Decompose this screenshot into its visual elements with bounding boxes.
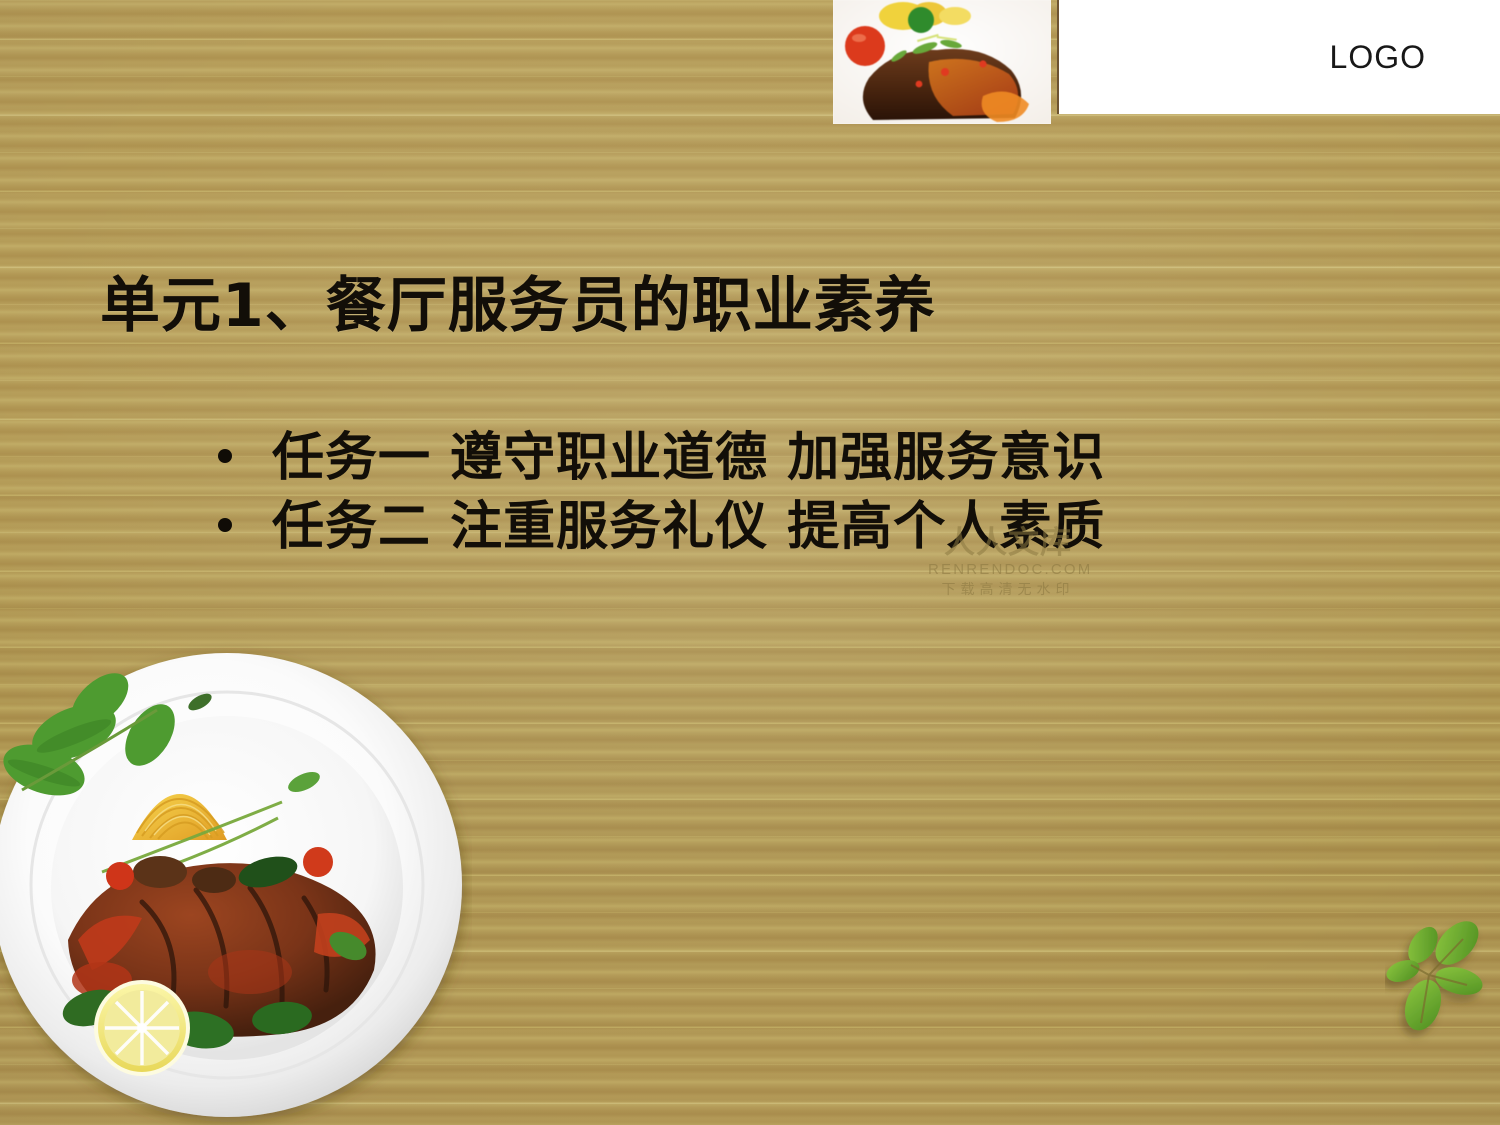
list-item: 任务二 注重服务礼仪 提高个人素质 [218, 493, 1218, 562]
plate-of-grilled-meat [0, 640, 472, 1125]
list-item: 任务一 遵守职业道德 加强服务意识 [218, 424, 1218, 493]
basil-leaf-sprig-icon [1385, 905, 1495, 1050]
bullet-dot-icon [218, 518, 232, 532]
page-title: 单元1、餐厅服务员的职业素养 [100, 273, 936, 339]
bullet-text: 任务二 注重服务礼仪 提高个人素质 [272, 493, 1105, 562]
bullet-list: 任务一 遵守职业道德 加强服务意识 任务二 注重服务礼仪 提高个人素质 [218, 424, 1218, 562]
logo-text: LOGO [1330, 39, 1426, 76]
logo-bar: LOGO [1057, 0, 1500, 114]
grilled-meat-thumbnail [833, 0, 1051, 124]
bullet-dot-icon [218, 449, 232, 463]
slide-canvas: LOGO 单元1、餐厅服务员的职业素养 任务一 遵守职业道德 加强服务意识 任务… [0, 0, 1500, 1125]
bullet-text: 任务一 遵守职业道德 加强服务意识 [272, 424, 1105, 493]
